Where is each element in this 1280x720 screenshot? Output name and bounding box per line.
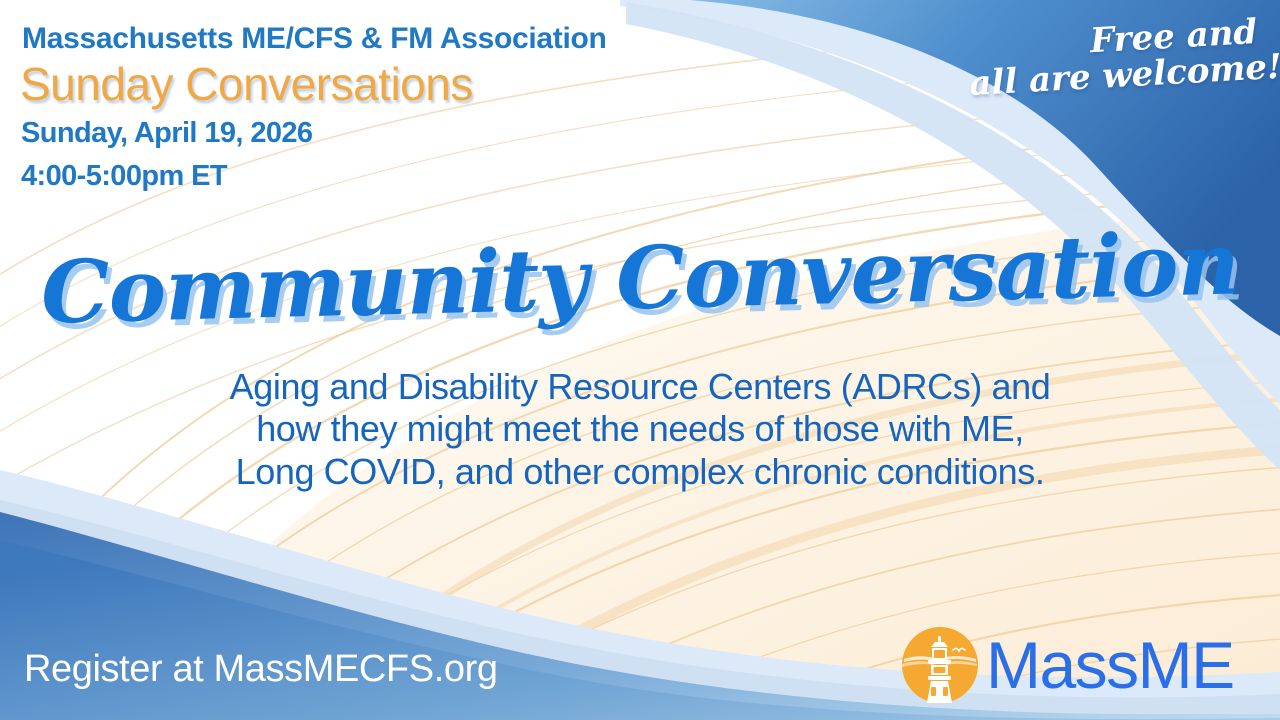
event-description: Aging and Disability Resource Centers (A… <box>64 366 1216 493</box>
organization-name: Massachusetts ME/CFS & FM Association <box>22 22 607 56</box>
series-title: Sunday Conversations <box>20 57 473 111</box>
event-time: 4:00-5:00pm ET <box>21 160 227 193</box>
description-line: how they might meet the needs of those w… <box>64 408 1216 450</box>
event-flyer: Massachusetts ME/CFS & FM Association Su… <box>0 0 1280 720</box>
register-call-to-action[interactable]: Register at MassMECFS.org <box>24 648 498 691</box>
event-date: Sunday, April 19, 2026 <box>21 117 312 150</box>
headline: Community Conversation <box>0 220 1280 337</box>
description-line: Long COVID, and other complex chronic co… <box>64 451 1216 493</box>
logo-wordmark: MassME <box>986 632 1234 698</box>
lighthouse-icon <box>898 623 982 707</box>
description-line: Aging and Disability Resource Centers (A… <box>64 366 1216 408</box>
massme-logo: MassME <box>898 622 1266 708</box>
free-admission-badge: Free and all are welcome! <box>966 14 1260 102</box>
